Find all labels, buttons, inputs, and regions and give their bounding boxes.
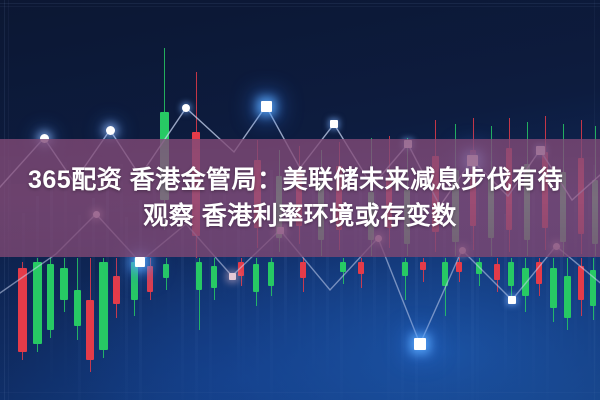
data-point-marker [508, 296, 516, 304]
data-point-marker [261, 101, 272, 112]
headline-text-block: 365配资 香港金管局：美联储未来减息步伐有待 观察 香港利率环境或存变数 [0, 139, 600, 257]
news-banner-image: 365配资 香港金管局：美联储未来减息步伐有待 观察 香港利率环境或存变数 [0, 0, 600, 400]
data-point-marker [106, 126, 115, 135]
headline-line-2: 观察 香港利率环境或存变数 [143, 198, 456, 234]
headline-line-1: 365配资 香港金管局：美联储未来减息步伐有待 [28, 162, 563, 198]
data-point-marker [414, 338, 426, 350]
data-point-marker [135, 257, 145, 267]
data-point-marker [229, 273, 236, 280]
data-point-marker [182, 104, 190, 112]
data-point-marker [330, 120, 338, 128]
